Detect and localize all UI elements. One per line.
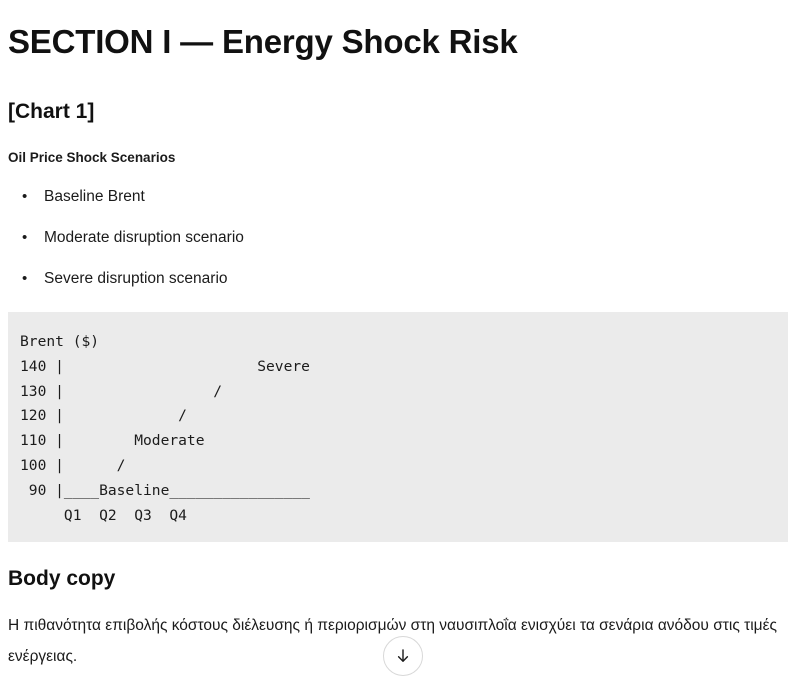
bullet-icon: • (22, 187, 27, 207)
ascii-chart-block: Brent ($) 140 | Severe 130 | / 120 | / 1… (8, 312, 788, 542)
list-item: • Baseline Brent (8, 187, 788, 207)
list-item-label: Severe disruption scenario (44, 270, 228, 287)
chart-section-heading: [Chart 1] (8, 62, 788, 125)
bullet-icon: • (22, 269, 27, 289)
list-item: • Moderate disruption scenario (8, 228, 788, 248)
scroll-down-button[interactable] (383, 636, 423, 676)
body-section-heading: Body copy (8, 542, 788, 592)
arrow-down-icon (394, 647, 412, 665)
bullet-icon: • (22, 228, 27, 248)
page-title: SECTION I — Energy Shock Risk (8, 0, 788, 62)
list-item: • Severe disruption scenario (8, 269, 788, 289)
list-item-label: Moderate disruption scenario (44, 229, 244, 246)
chart-label: Oil Price Shock Scenarios (8, 125, 788, 167)
scenario-list: • Baseline Brent • Moderate disruption s… (8, 187, 788, 289)
document-page: SECTION I — Energy Shock Risk [Chart 1] … (0, 0, 796, 659)
ascii-chart-text: Brent ($) 140 | Severe 130 | / 120 | / 1… (20, 330, 788, 528)
list-item-label: Baseline Brent (44, 188, 145, 205)
